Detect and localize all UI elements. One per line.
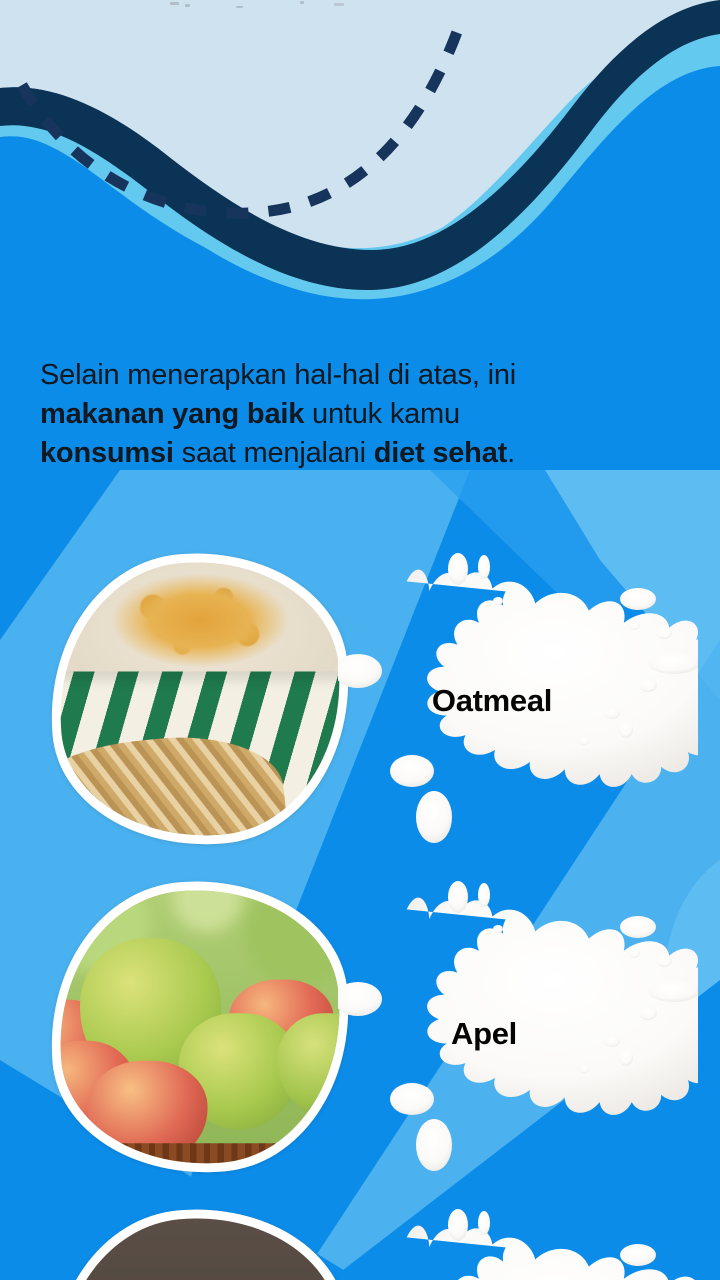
food-thumbnail-apel[interactable] bbox=[50, 881, 350, 1173]
oatmeal-photo bbox=[48, 550, 353, 848]
milk-splash-badge[interactable]: Oatmeal bbox=[338, 545, 698, 855]
artifact-speck bbox=[236, 6, 243, 8]
headline-line-2-plain: untuk kamu bbox=[304, 398, 460, 430]
headline-bold-2: konsumsi bbox=[40, 437, 174, 469]
food-thumbnail-oatmeal[interactable] bbox=[50, 553, 350, 845]
artifact-speck bbox=[334, 3, 344, 6]
milk-splash-icon bbox=[338, 545, 698, 855]
artifact-speck bbox=[300, 1, 304, 4]
milk-splash-badge[interactable]: Apel bbox=[338, 873, 698, 1183]
milk-splash-badge[interactable] bbox=[338, 1201, 698, 1280]
telur-photo bbox=[48, 1206, 353, 1280]
food-item-row[interactable] bbox=[0, 1201, 720, 1280]
food-item-row[interactable]: Apel bbox=[0, 873, 720, 1183]
headline-text: Selain menerapkan hal-hal di atas, ini m… bbox=[40, 356, 680, 473]
poster-canvas: Selain menerapkan hal-hal di atas, ini m… bbox=[0, 0, 720, 1280]
headline-period: . bbox=[507, 437, 515, 469]
milk-splash-icon bbox=[338, 873, 698, 1183]
headline-line-3-plain: saat menjalani bbox=[174, 437, 374, 469]
headline-line-1: Selain menerapkan hal-hal di atas, ini bbox=[40, 359, 516, 391]
apel-photo bbox=[48, 878, 353, 1176]
headline-bold-3: diet sehat bbox=[374, 437, 507, 469]
headline-bold-1: makanan yang baik bbox=[40, 398, 304, 430]
food-thumbnail-telur[interactable] bbox=[50, 1209, 350, 1280]
artifact-speck bbox=[170, 2, 179, 5]
artifact-speck bbox=[185, 4, 190, 7]
food-item-row[interactable]: Oatmeal bbox=[0, 545, 720, 855]
milk-splash-icon bbox=[338, 1201, 698, 1280]
